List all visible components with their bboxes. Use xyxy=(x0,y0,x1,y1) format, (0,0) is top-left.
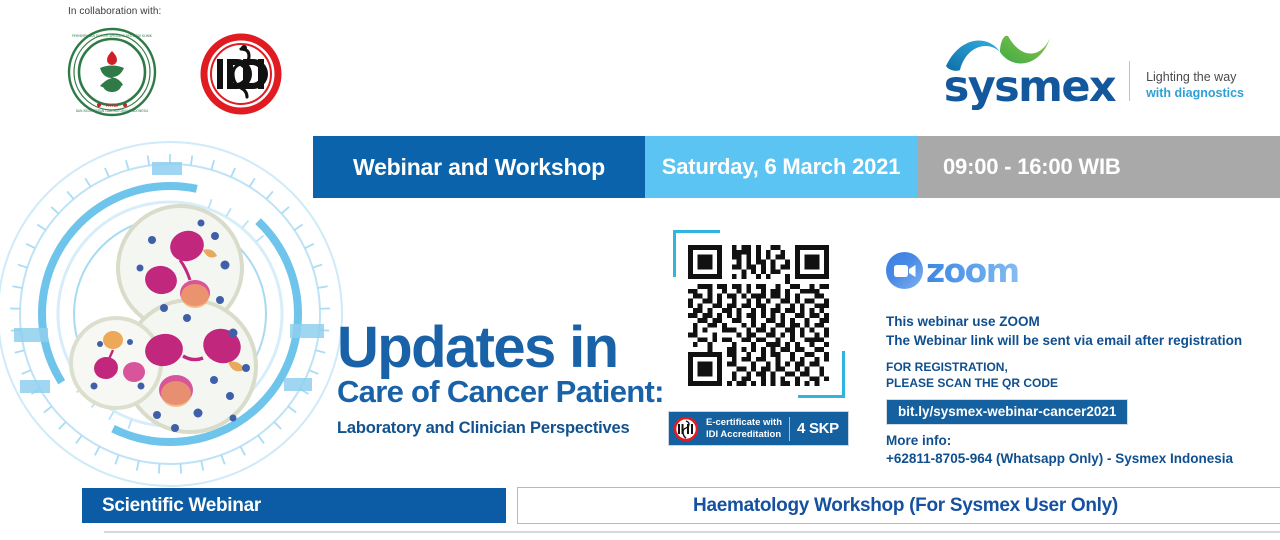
sysmex-divider xyxy=(1129,61,1130,101)
contact-number: +62811-8705-964 (Whatsapp Only) - Sysmex… xyxy=(886,450,1242,469)
svg-text:PERHIMPUNAN DOKTER SPESIALIS P: PERHIMPUNAN DOKTER SPESIALIS PATOLOGI KL… xyxy=(72,34,153,38)
svg-text:PHTDI: PHTDI xyxy=(106,103,119,108)
idi-logo xyxy=(200,33,282,115)
sysmex-tagline-line2: with diagnostics xyxy=(1146,86,1244,102)
banner-time: 09:00 - 16:00 WIB xyxy=(917,136,1280,198)
registration-link[interactable]: bit.ly/sysmex-webinar-cancer2021 xyxy=(886,399,1128,425)
title-line-1: Updates in xyxy=(337,322,664,374)
svg-text:DAN KEDOKTERAN LABORATORIUM IN: DAN KEDOKTERAN LABORATORIUM INDONESIA xyxy=(76,109,149,113)
blood-cell-illustration-icon xyxy=(0,128,356,500)
title-line-2: Care of Cancer Patient: xyxy=(337,376,664,407)
sysmex-tagline-line1: Lighting the way xyxy=(1146,70,1244,86)
title-subtitle: Laboratory and Clinician Perspectives xyxy=(337,419,664,438)
banner-event-type: Webinar and Workshop xyxy=(313,136,645,198)
phtdi-logo: PERHIMPUNAN DOKTER SPESIALIS PATOLOGI KL… xyxy=(66,26,158,118)
registration-heading-line1: FOR REGISTRATION, xyxy=(886,360,1242,376)
blood-cell-illustration xyxy=(0,128,356,500)
zoom-camera-icon xyxy=(886,252,923,289)
zoom-note-line1: This webinar use ZOOM xyxy=(886,312,1242,331)
idi-logo-icon xyxy=(200,33,282,115)
qr-code-icon xyxy=(688,245,829,386)
video-camera-icon xyxy=(894,264,916,278)
ecertificate-line1: E-certificate with xyxy=(706,417,782,429)
flyer-canvas: In collaboration with: PERHIMPUNAN DOKTE… xyxy=(0,0,1280,540)
sysmex-wordmark: sysmex xyxy=(944,68,1115,108)
collaboration-logos: PERHIMPUNAN DOKTER SPESIALIS PATOLOGI KL… xyxy=(66,26,282,118)
sysmex-logo: sysmex Lighting the way with diagnostics xyxy=(944,30,1244,108)
phtdi-logo-icon: PERHIMPUNAN DOKTER SPESIALIS PATOLOGI KL… xyxy=(66,26,158,118)
ecertificate-line2: IDI Accreditation xyxy=(706,429,782,441)
event-banner: Webinar and Workshop Saturday, 6 March 2… xyxy=(313,136,1280,198)
qr-code-image[interactable] xyxy=(688,245,829,386)
zoom-note-line2: The Webinar link will be sent via email … xyxy=(886,331,1242,350)
banner-date: Saturday, 6 March 2021 xyxy=(645,136,917,198)
zoom-wordmark: zoom xyxy=(926,254,1019,287)
more-info-label: More info: xyxy=(886,432,1242,451)
sysmex-tagline: Lighting the way with diagnostics xyxy=(1146,70,1244,107)
idi-badge-icon xyxy=(673,416,699,442)
ecertificate-text: E-certificate with IDI Accreditation xyxy=(706,417,782,440)
bottom-divider xyxy=(104,531,1280,533)
ecertificate-badge: E-certificate with IDI Accreditation 4 S… xyxy=(668,411,849,446)
tab-haematology-workshop[interactable]: Haematology Workshop (For Sysmex User On… xyxy=(517,487,1280,524)
ecertificate-skp: 4 SKP xyxy=(797,420,839,437)
sysmex-mark: sysmex xyxy=(944,30,1115,108)
registration-info: This webinar use ZOOM The Webinar link w… xyxy=(886,312,1242,469)
collaboration-label: In collaboration with: xyxy=(68,6,161,17)
idi-badge-logo-icon xyxy=(673,416,699,442)
tab-scientific-webinar[interactable]: Scientific Webinar xyxy=(82,488,506,523)
zoom-logo: zoom xyxy=(886,252,1019,289)
registration-qr-code[interactable] xyxy=(667,228,847,398)
page-title: Updates in Care of Cancer Patient: Labor… xyxy=(337,322,664,438)
ecertificate-divider xyxy=(789,417,790,441)
session-tabs: Scientific Webinar Haematology Workshop … xyxy=(82,487,1280,524)
registration-heading-line2: PLEASE SCAN THE QR CODE xyxy=(886,376,1242,392)
